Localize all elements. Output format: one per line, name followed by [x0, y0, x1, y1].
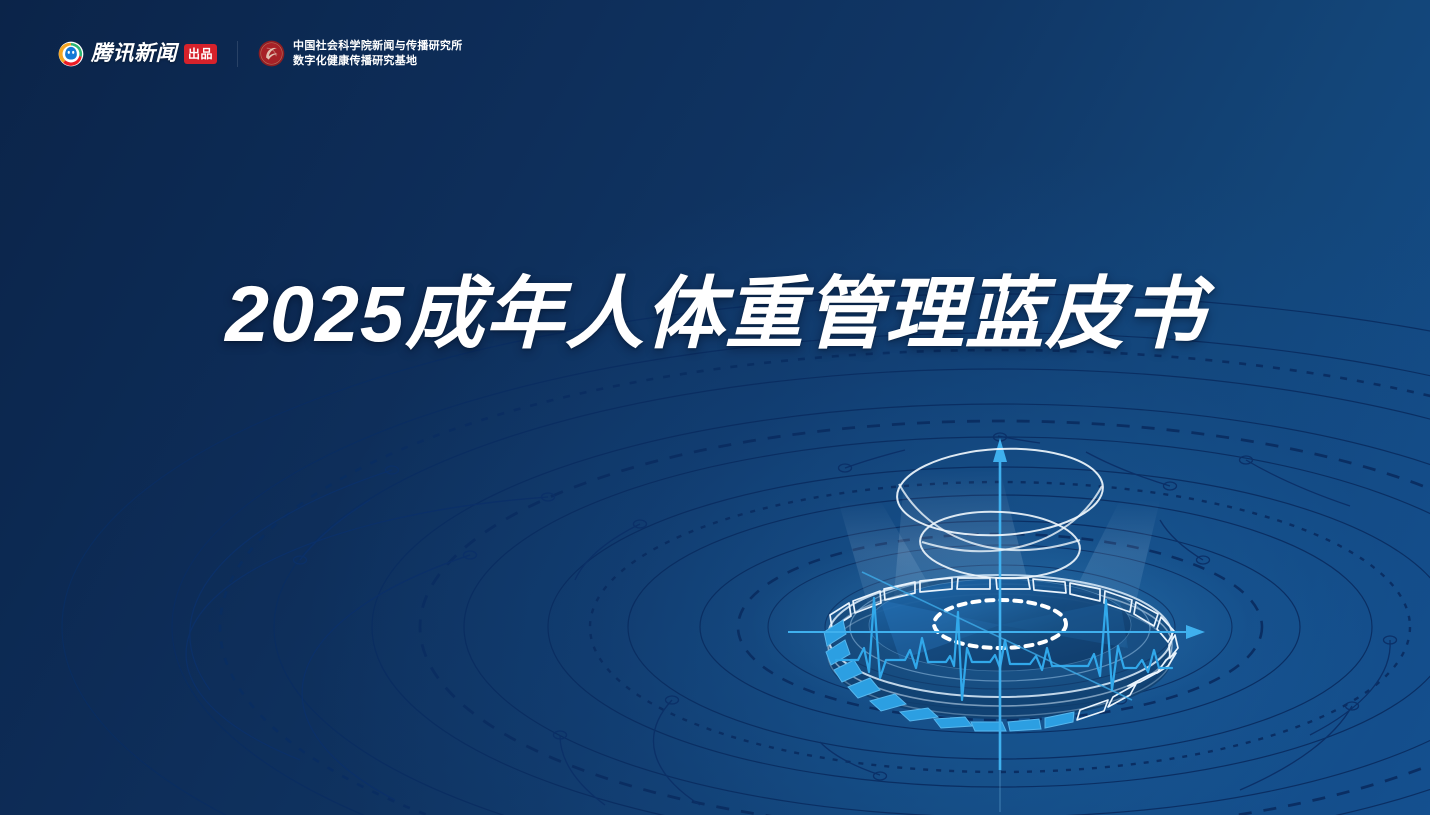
slide-canvas: 腾讯新闻 出品 中国社会科学院新闻与传播研究所 数字化健康传播研究基地 2025… [0, 0, 1430, 815]
tencent-penguin-icon [58, 41, 84, 67]
background-illustration [0, 0, 1430, 815]
institute-line-2: 数字化健康传播研究基地 [293, 55, 463, 68]
publisher-logo[interactable]: 腾讯新闻 出品 [58, 41, 217, 67]
publisher-badge: 出品 [184, 44, 217, 64]
page-title: 2025成年人体重管理蓝皮书 [0, 270, 1430, 358]
logo-bar: 腾讯新闻 出品 中国社会科学院新闻与传播研究所 数字化健康传播研究基地 [58, 40, 463, 68]
cass-emblem-icon [258, 40, 285, 67]
institute-text: 中国社会科学院新闻与传播研究所 数字化健康传播研究基地 [293, 40, 463, 68]
institute-line-1: 中国社会科学院新闻与传播研究所 [293, 40, 463, 53]
logo-divider [237, 41, 238, 67]
institute-logo[interactable]: 中国社会科学院新闻与传播研究所 数字化健康传播研究基地 [258, 40, 463, 68]
ripple-rings [62, 294, 1430, 815]
publisher-name: 腾讯新闻 [91, 43, 177, 64]
